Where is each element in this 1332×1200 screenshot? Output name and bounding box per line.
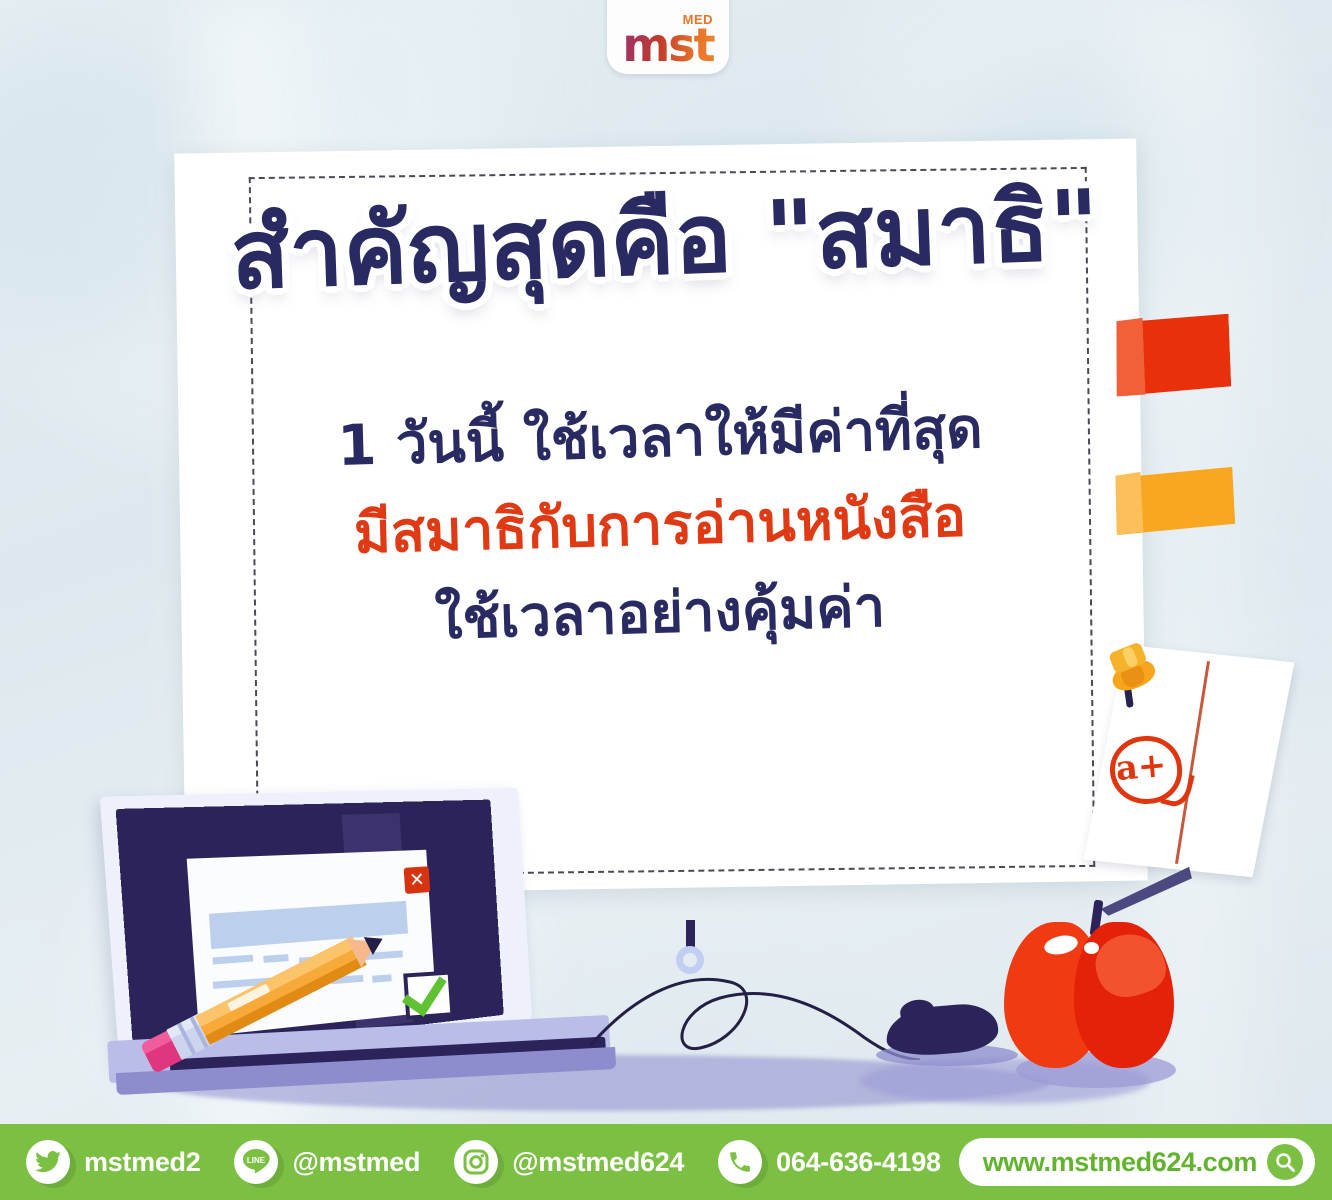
footer-label-line: @mstmed [292, 1147, 420, 1178]
brand-logo-badge: MED mst [607, 0, 729, 74]
twitter-icon[interactable] [26, 1140, 70, 1184]
website-url: www.mstmed624.com [983, 1147, 1257, 1178]
search-icon[interactable] [1267, 1144, 1303, 1180]
footer-item-instagram[interactable]: @mstmed624 [454, 1140, 684, 1184]
apple-illustration [1000, 900, 1180, 1085]
body-text-block: 1 วันนี้ ใช้เวลาให้มีค่าที่สุด มีสมาธิกั… [180, 405, 1140, 647]
phone-icon[interactable] [718, 1140, 762, 1184]
close-icon: ✕ [404, 866, 431, 894]
pinned-paper: a+ [1096, 652, 1306, 902]
body-line-3: ใช้เวลาอย่างคุ้มค่า [179, 568, 1140, 661]
footer-label-instagram: @mstmed624 [512, 1147, 684, 1178]
body-line-1: 1 วันนี้ ใช้เวลาให้มีค่าที่สุด [179, 392, 1140, 485]
body-line-2: มีสมาธิกับการอ่านหนังสือ [179, 480, 1140, 573]
line-icon-text: LINE [247, 1156, 266, 1165]
mouse-cable [590, 930, 920, 1060]
line-icon[interactable]: LINE [234, 1140, 278, 1184]
instagram-icon[interactable] [454, 1140, 498, 1184]
footer-bar: mstmed2 LINE @mstmed @mstmed624 [0, 1124, 1332, 1200]
computer-mouse [886, 1000, 998, 1058]
footer-item-twitter[interactable]: mstmed2 [26, 1140, 200, 1184]
footer-label-twitter: mstmed2 [84, 1147, 200, 1178]
website-pill[interactable]: www.mstmed624.com [959, 1138, 1315, 1186]
apple-gloss [1084, 942, 1099, 954]
footer-item-phone[interactable]: 064-636-4198 [718, 1140, 941, 1184]
footer-label-phone: 064-636-4198 [776, 1147, 941, 1178]
logo-wordmark: mst [607, 22, 729, 68]
mst-med-logo: MED mst [607, 16, 729, 74]
footer-item-line[interactable]: LINE @mstmed [234, 1140, 420, 1184]
poster-canvas: MED mst สำคัญสุดคือ "สมาธิ" 1 วันนี้ ใช้… [0, 0, 1332, 1200]
